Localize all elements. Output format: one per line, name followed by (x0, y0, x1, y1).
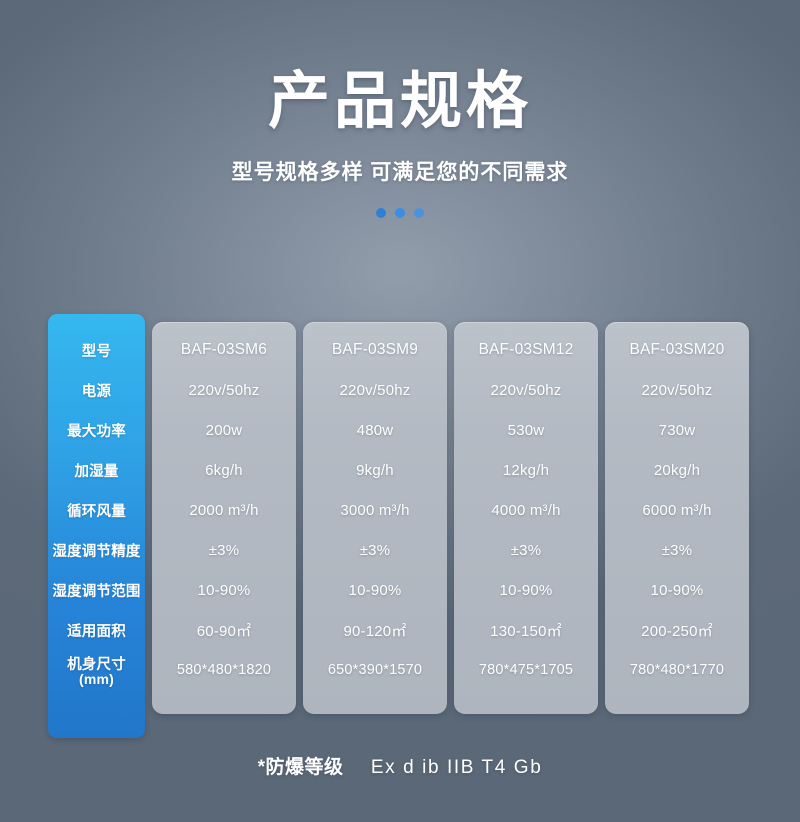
row-label-max-power: 最大功率 (48, 410, 145, 450)
row-label-dimensions-unit: (mm) (79, 672, 114, 686)
row-label-power-supply: 电源 (48, 370, 145, 410)
cell-humidity-range: 10-90% (605, 570, 749, 610)
spec-label-column: 型号 电源 最大功率 加湿量 循环风量 湿度调节精度 湿度调节范围 适用面积 机… (48, 314, 145, 738)
cell-humidity-range: 10-90% (454, 570, 598, 610)
cell-model: BAF-03SM20 (605, 330, 749, 370)
cell-dimensions: 580*480*1820 (152, 650, 296, 690)
cell-humidification: 9kg/h (303, 450, 447, 490)
cell-humidification: 12kg/h (454, 450, 598, 490)
cell-max-power: 530w (454, 410, 598, 450)
header-section: 产品规格 型号规格多样 可满足您的不同需求 (0, 0, 800, 218)
row-label-humidity-accuracy: 湿度调节精度 (48, 530, 145, 570)
cell-power-supply: 220v/50hz (303, 370, 447, 410)
cell-power-supply: 220v/50hz (454, 370, 598, 410)
cell-area: 90-120㎡ (303, 610, 447, 650)
cell-area: 200-250㎡ (605, 610, 749, 650)
page-title: 产品规格 (0, 0, 800, 133)
cell-power-supply: 220v/50hz (605, 370, 749, 410)
cell-air-volume: 2000 m³/h (152, 490, 296, 530)
cell-humidity-accuracy: ±3% (454, 530, 598, 570)
cell-humidification: 20kg/h (605, 450, 749, 490)
cell-model: BAF-03SM6 (152, 330, 296, 370)
spec-column-3: BAF-03SM12 220v/50hz 530w 12kg/h 4000 m³… (454, 322, 598, 714)
cell-humidification: 6kg/h (152, 450, 296, 490)
page-subtitle: 型号规格多样 可满足您的不同需求 (0, 133, 800, 186)
spec-column-4: BAF-03SM20 220v/50hz 730w 20kg/h 6000 m³… (605, 322, 749, 714)
explosion-proof-value: Ex d ib IIB T4 Gb (371, 757, 543, 778)
dot-1-icon (376, 208, 386, 218)
cell-model: BAF-03SM12 (454, 330, 598, 370)
cell-power-supply: 220v/50hz (152, 370, 296, 410)
cell-max-power: 480w (303, 410, 447, 450)
cell-humidity-accuracy: ±3% (303, 530, 447, 570)
cell-area: 60-90㎡ (152, 610, 296, 650)
cell-air-volume: 4000 m³/h (454, 490, 598, 530)
cell-max-power: 730w (605, 410, 749, 450)
spec-data-columns: BAF-03SM6 220v/50hz 200w 6kg/h 2000 m³/h… (152, 322, 758, 722)
cell-dimensions: 780*475*1705 (454, 650, 598, 690)
cell-dimensions: 780*480*1770 (605, 650, 749, 690)
explosion-proof-label: *防爆等级 (258, 757, 344, 778)
cell-model: BAF-03SM9 (303, 330, 447, 370)
row-label-humidity-range: 湿度调节范围 (48, 570, 145, 610)
cell-humidity-range: 10-90% (303, 570, 447, 610)
dot-2-icon (395, 208, 405, 218)
row-label-humidification: 加湿量 (48, 450, 145, 490)
cell-humidity-accuracy: ±3% (152, 530, 296, 570)
row-label-model: 型号 (48, 330, 145, 370)
row-label-air-volume: 循环风量 (48, 490, 145, 530)
explosion-proof-note: *防爆等级 Ex d ib IIB T4 Gb (0, 752, 800, 779)
cell-humidity-range: 10-90% (152, 570, 296, 610)
spec-column-2: BAF-03SM9 220v/50hz 480w 9kg/h 3000 m³/h… (303, 322, 447, 714)
dot-indicators (0, 186, 800, 218)
cell-dimensions: 650*390*1570 (303, 650, 447, 690)
cell-area: 130-150㎡ (454, 610, 598, 650)
spec-table: 型号 电源 最大功率 加湿量 循环风量 湿度调节精度 湿度调节范围 适用面积 机… (48, 314, 758, 744)
row-label-area: 适用面积 (48, 610, 145, 650)
row-label-dimensions: 机身尺寸 (mm) (48, 650, 145, 694)
spec-column-1: BAF-03SM6 220v/50hz 200w 6kg/h 2000 m³/h… (152, 322, 296, 714)
product-spec-page: 产品规格 型号规格多样 可满足您的不同需求 型号 电源 最大功率 加湿量 循环风… (0, 0, 800, 822)
cell-humidity-accuracy: ±3% (605, 530, 749, 570)
cell-air-volume: 6000 m³/h (605, 490, 749, 530)
cell-air-volume: 3000 m³/h (303, 490, 447, 530)
cell-max-power: 200w (152, 410, 296, 450)
dot-3-icon (414, 208, 424, 218)
